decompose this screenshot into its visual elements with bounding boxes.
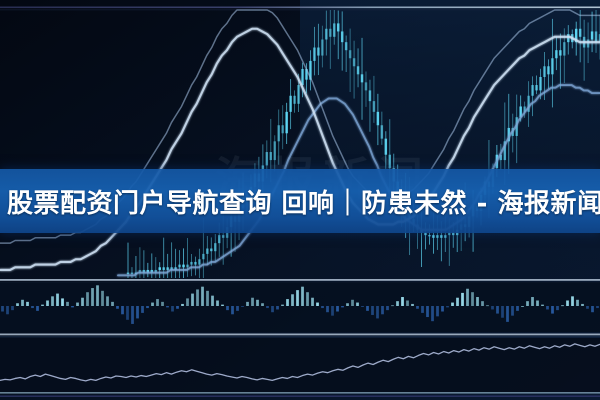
bottom-frame-line: [0, 392, 600, 394]
divider-histogram-indicator: [0, 334, 600, 336]
headline-banner: 股票配资门户导航查询 回响｜防患未然 - 海报新闻: [0, 169, 600, 233]
divider-price-histogram: [0, 279, 600, 281]
stock-chart-banner-image: 海报新闻 股票配资门户导航查询 回响｜防患未然 - 海报新闻: [0, 0, 600, 400]
indicator-panel: [0, 338, 600, 392]
histogram-panel: [0, 282, 600, 332]
top-frame-line-2: [0, 10, 600, 11]
top-frame-line: [0, 7, 600, 9]
divider-histogram-indicator-2: [0, 337, 600, 338]
headline-title: 股票配资门户导航查询 回响｜防患未然 - 海报新闻: [0, 183, 600, 220]
bottom-frame-line-2: [0, 396, 600, 397]
